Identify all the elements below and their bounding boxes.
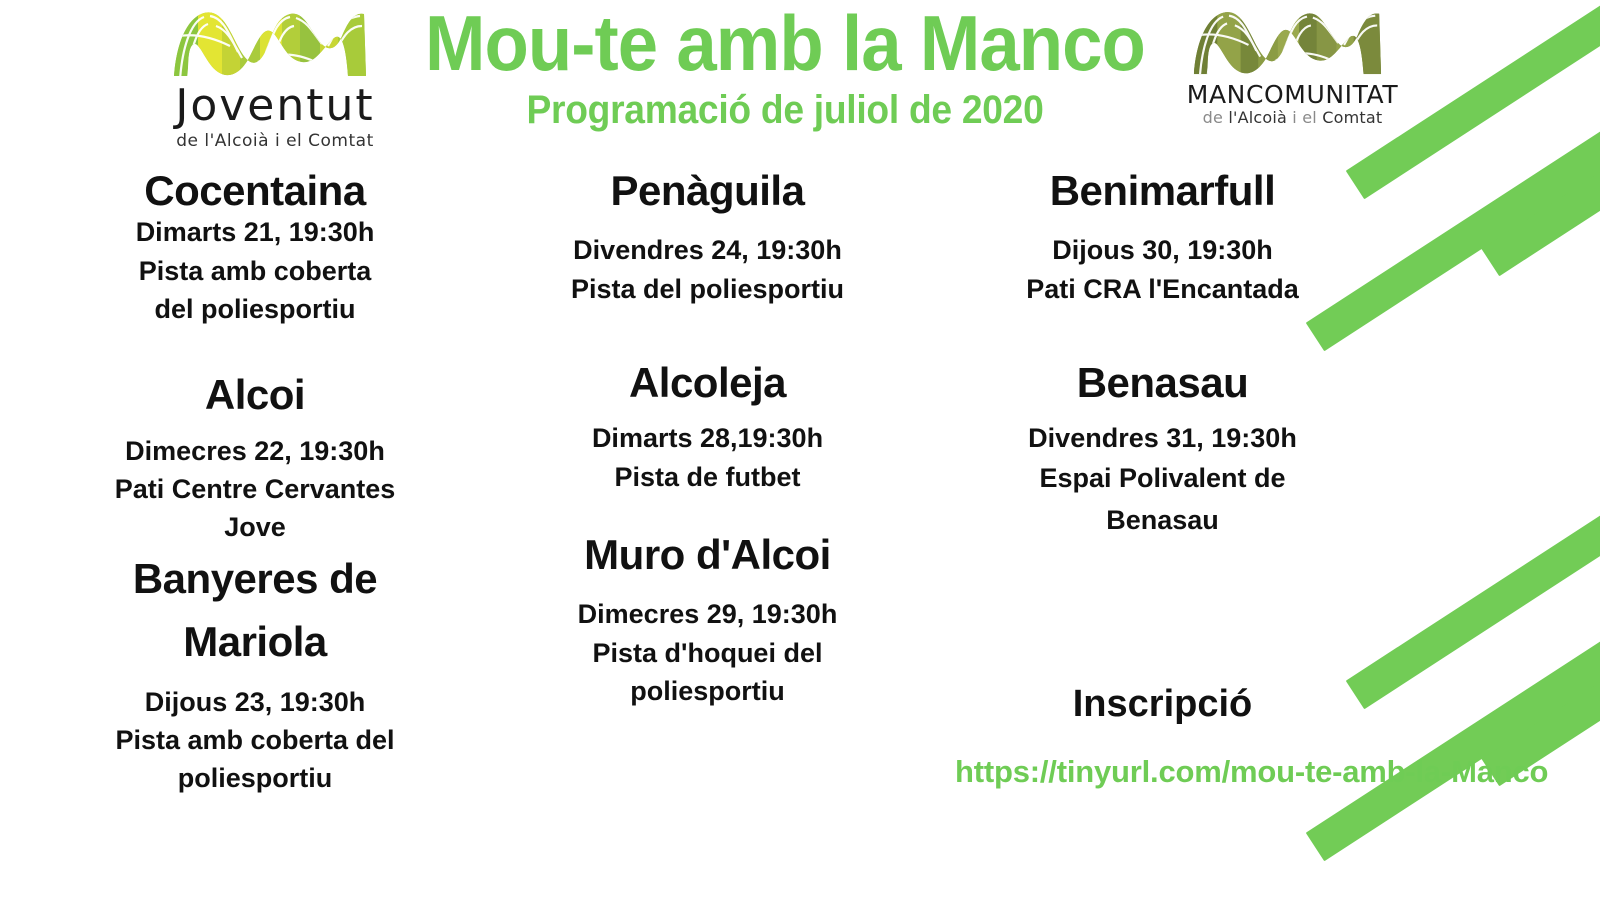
manco-sub-comtat: Comtat: [1322, 108, 1382, 127]
event-venue-line2: Jove: [30, 508, 480, 546]
event-town: Benimarfull: [955, 168, 1370, 213]
inscription-block: Inscripció https://tinyurl.com/mou-te-am…: [955, 684, 1370, 790]
event-penaguila: Penàguila Divendres 24, 19:30h Pista del…: [500, 168, 915, 308]
manco-sub-alcoia: l'Alcoià: [1228, 108, 1287, 127]
header: Joventut de l'Alcoià i el Comtat Mou-te …: [0, 0, 1600, 150]
event-town: Alcoi: [30, 372, 480, 417]
event-town: Benasau: [955, 360, 1370, 405]
events-column-2: Penàguila Divendres 24, 19:30h Pista del…: [500, 168, 915, 710]
event-venue-line1: Pista amb coberta: [30, 252, 480, 290]
event-muro-dalcoi: Muro d'Alcoi Dimecres 29, 19:30h Pista d…: [500, 532, 915, 710]
spacer: [500, 308, 915, 360]
event-date: Dimarts 28,19:30h: [500, 419, 915, 457]
event-benimarfull: Benimarfull Dijous 30, 19:30h Pati CRA l…: [955, 168, 1370, 308]
event-banyeres-de-mariola: Banyeres de Mariola Dijous 23, 19:30h Pi…: [30, 547, 480, 798]
event-alcoleja: Alcoleja Dimarts 28,19:30h Pista de futb…: [500, 360, 915, 496]
poster-root: Joventut de l'Alcoià i el Comtat Mou-te …: [0, 0, 1600, 900]
joventut-logo: Joventut de l'Alcoià i el Comtat: [170, 2, 380, 147]
event-venue-line2: poliesportiu: [500, 672, 915, 710]
event-date: Dimecres 29, 19:30h: [500, 595, 915, 633]
event-town: Alcoleja: [500, 360, 915, 405]
event-venue-line1: Espai Polivalent de: [955, 458, 1370, 500]
event-venue-line2: del poliesportiu: [30, 290, 480, 328]
event-venue-line1: Pista del poliesportiu: [500, 270, 915, 308]
spacer: [955, 308, 1370, 360]
event-date: Dijous 30, 19:30h: [955, 231, 1370, 269]
inscription-url-link[interactable]: https://tinyurl.com/mou-te-amb-la-Manco: [955, 754, 1370, 790]
event-venue-line1: Pista d'hoquei del: [500, 634, 915, 672]
mancomunitat-logo: MANCOMUNITAT de l'Alcoià i el Comtat: [1185, 2, 1400, 142]
mancomunitat-logo-name: MANCOMUNITAT: [1185, 82, 1400, 107]
event-town-line2: Mariola: [30, 610, 480, 673]
event-venue-line1: Pati Centre Cervantes: [30, 470, 480, 508]
manco-sub-de: de: [1203, 108, 1223, 127]
events-column-1: Cocentaina Dimarts 21, 19:30h Pista amb …: [30, 168, 480, 798]
joventut-logo-name: Joventut: [170, 84, 380, 128]
manco-sub-i: i: [1292, 108, 1297, 127]
event-town: Muro d'Alcoi: [500, 532, 915, 577]
event-date: Divendres 31, 19:30h: [955, 419, 1370, 457]
event-date: Dimarts 21, 19:30h: [30, 213, 480, 251]
page-subtitle: Programació de juliol de 2020: [418, 88, 1153, 132]
event-date: Divendres 24, 19:30h: [500, 231, 915, 269]
event-cocentaina: Cocentaina Dimarts 21, 19:30h Pista amb …: [30, 168, 480, 328]
event-alcoi: Alcoi Dimecres 22, 19:30h Pati Centre Ce…: [30, 372, 480, 546]
events-column-3: Benimarfull Dijous 30, 19:30h Pati CRA l…: [955, 168, 1370, 541]
spacer: [30, 328, 480, 372]
wave-mountain-logo-icon: [1185, 2, 1390, 80]
event-benasau: Benasau Divendres 31, 19:30h Espai Poliv…: [955, 360, 1370, 541]
event-venue-line2: Benasau: [955, 500, 1370, 542]
page-title: Mou-te amb la Manco: [418, 4, 1153, 84]
event-town-line1: Banyeres de: [30, 547, 480, 610]
mancomunitat-logo-subtitle: de l'Alcoià i el Comtat: [1185, 110, 1400, 126]
event-date: Dimecres 22, 19:30h: [30, 432, 480, 470]
event-town: Penàguila: [500, 168, 915, 213]
joventut-logo-subtitle: de l'Alcoià i el Comtat: [170, 133, 380, 150]
event-date: Dijous 23, 19:30h: [30, 683, 480, 721]
event-town: Cocentaina: [30, 168, 480, 213]
manco-sub-el: el: [1302, 108, 1317, 127]
wave-mountain-logo-icon: [170, 2, 370, 82]
event-venue-line1: Pati CRA l'Encantada: [955, 270, 1370, 308]
event-venue-line2: poliesportiu: [30, 759, 480, 797]
event-venue-line1: Pista de futbet: [500, 458, 915, 496]
event-venue-line1: Pista amb coberta del: [30, 721, 480, 759]
spacer: [500, 496, 915, 532]
title-block: Mou-te amb la Manco Programació de julio…: [390, 4, 1180, 132]
inscription-title: Inscripció: [955, 684, 1370, 726]
